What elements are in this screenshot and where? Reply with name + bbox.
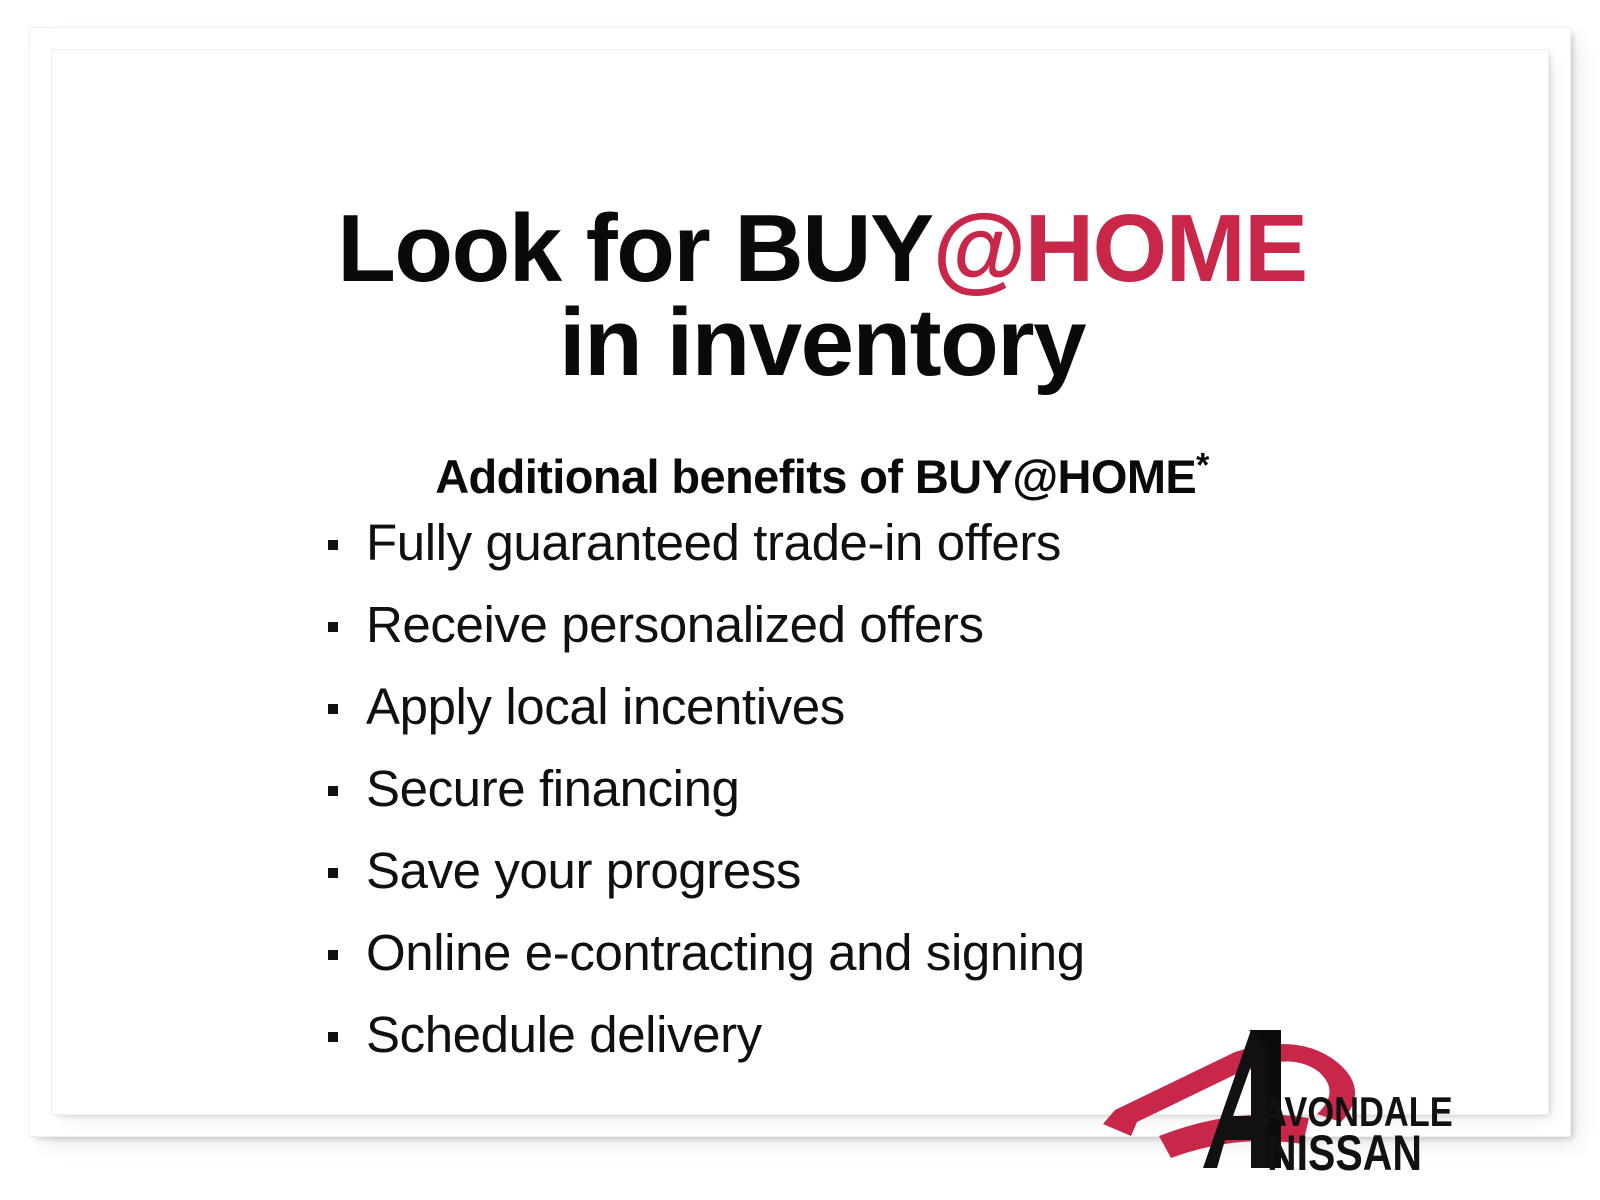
square-bullet-icon [328, 786, 338, 796]
headline-accent-text: @HOME [933, 195, 1307, 302]
square-bullet-icon [328, 1032, 338, 1042]
square-bullet-icon [328, 868, 338, 878]
list-item: Secure financing [324, 748, 1474, 830]
list-item-label: Schedule delivery [366, 1006, 762, 1063]
avondale-a-road-icon: AVONDALE NISSAN [1085, 1018, 1455, 1178]
list-item-label: Receive personalized offers [366, 596, 984, 653]
subheading: Additional benefits of BUY@HOME* [52, 449, 1592, 504]
list-item: Fully guaranteed trade-in offers [324, 502, 1474, 584]
slide-frame: Look for BUY@HOME in inventory Additiona… [30, 28, 1570, 1136]
footnote-asterisk: * [1196, 446, 1209, 484]
list-item: Receive personalized offers [324, 584, 1474, 666]
square-bullet-icon [328, 622, 338, 632]
list-item: Save your progress [324, 830, 1474, 912]
square-bullet-icon [328, 540, 338, 550]
list-item-label: Fully guaranteed trade-in offers [366, 514, 1061, 571]
list-item-label: Save your progress [366, 842, 801, 899]
headline-line-2: in inventory [52, 296, 1592, 390]
list-item-label: Online e-contracting and signing [366, 924, 1085, 981]
square-bullet-icon [328, 704, 338, 714]
subheading-text: Additional benefits of BUY@HOME [435, 450, 1196, 503]
benefits-list: Fully guaranteed trade-in offers Receive… [324, 502, 1474, 1076]
list-item-label: Apply local incentives [366, 678, 845, 735]
avondale-nissan-logo: AVONDALE NISSAN [1085, 1018, 1455, 1178]
headline-plain-text: Look for BUY [337, 195, 932, 302]
square-bullet-icon [328, 950, 338, 960]
list-item: Apply local incentives [324, 666, 1474, 748]
list-item: Online e-contracting and signing [324, 912, 1474, 994]
logo-line-2: NISSAN [1267, 1125, 1422, 1178]
page-title: Look for BUY@HOME in inventory [52, 202, 1592, 390]
slide-inner-frame: Look for BUY@HOME in inventory Additiona… [52, 50, 1548, 1114]
list-item-label: Secure financing [366, 760, 740, 817]
headline-line-1: Look for BUY@HOME [52, 202, 1592, 296]
